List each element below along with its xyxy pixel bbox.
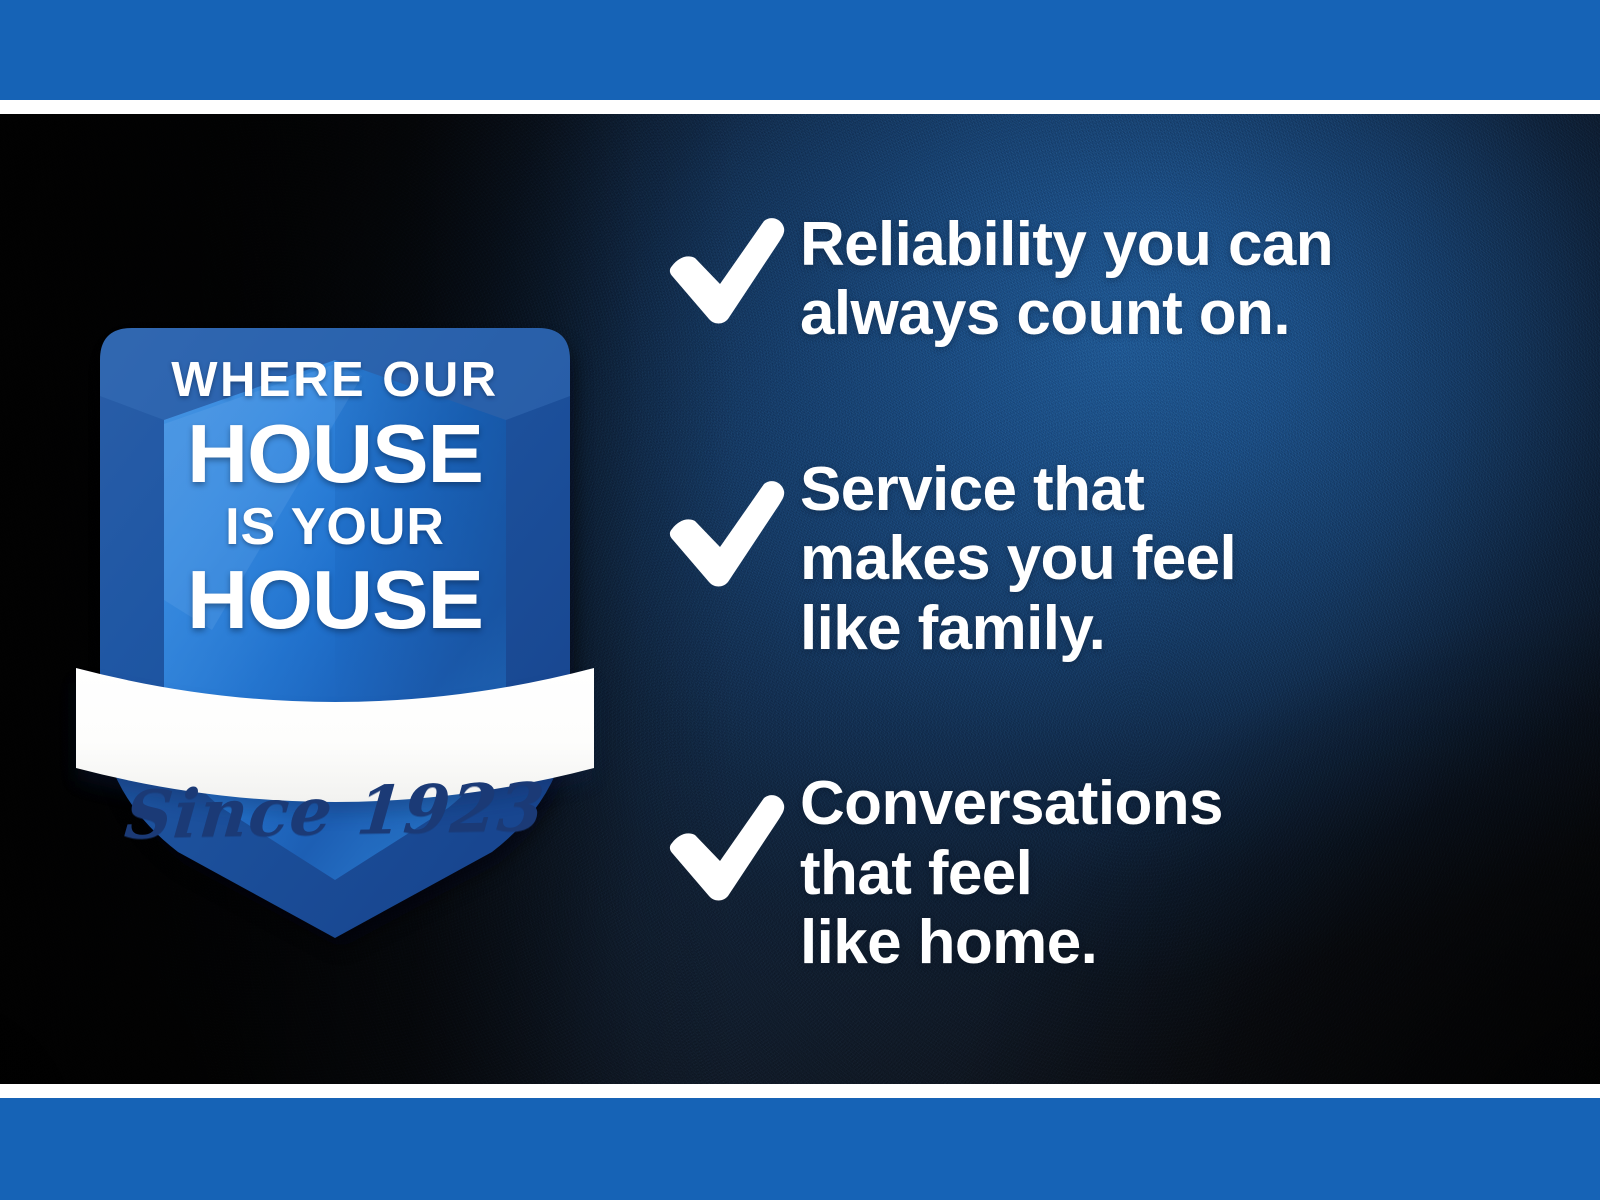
top-brand-bar: [0, 0, 1600, 100]
checkmark-icon: [668, 210, 800, 324]
benefit-item: Reliability you can always count on.: [668, 210, 1548, 349]
bottom-brand-bar: [0, 1098, 1600, 1200]
checkmark-icon: [668, 453, 800, 587]
benefit-item: Service that makes you feel like family.: [668, 453, 1548, 663]
benefits-list: Reliability you can always count on. Ser…: [668, 210, 1548, 978]
banner-stage: Where Our House Is Your House Since 1923…: [0, 114, 1600, 1087]
benefit-text: Reliability you can always count on.: [800, 210, 1548, 349]
benefit-item: Conversations that feel like home.: [668, 767, 1548, 977]
bottom-white-rule: [0, 1084, 1600, 1098]
promo-banner: Where Our House Is Your House Since 1923…: [0, 0, 1600, 1200]
benefit-text: Conversations that feel like home.: [800, 769, 1548, 977]
shield-graphic: [72, 300, 598, 950]
checkmark-icon: [668, 767, 800, 901]
shield-badge: Where Our House Is Your House Since 1923: [72, 300, 598, 950]
top-white-rule: [0, 100, 1600, 114]
benefit-text: Service that makes you feel like family.: [800, 455, 1548, 663]
